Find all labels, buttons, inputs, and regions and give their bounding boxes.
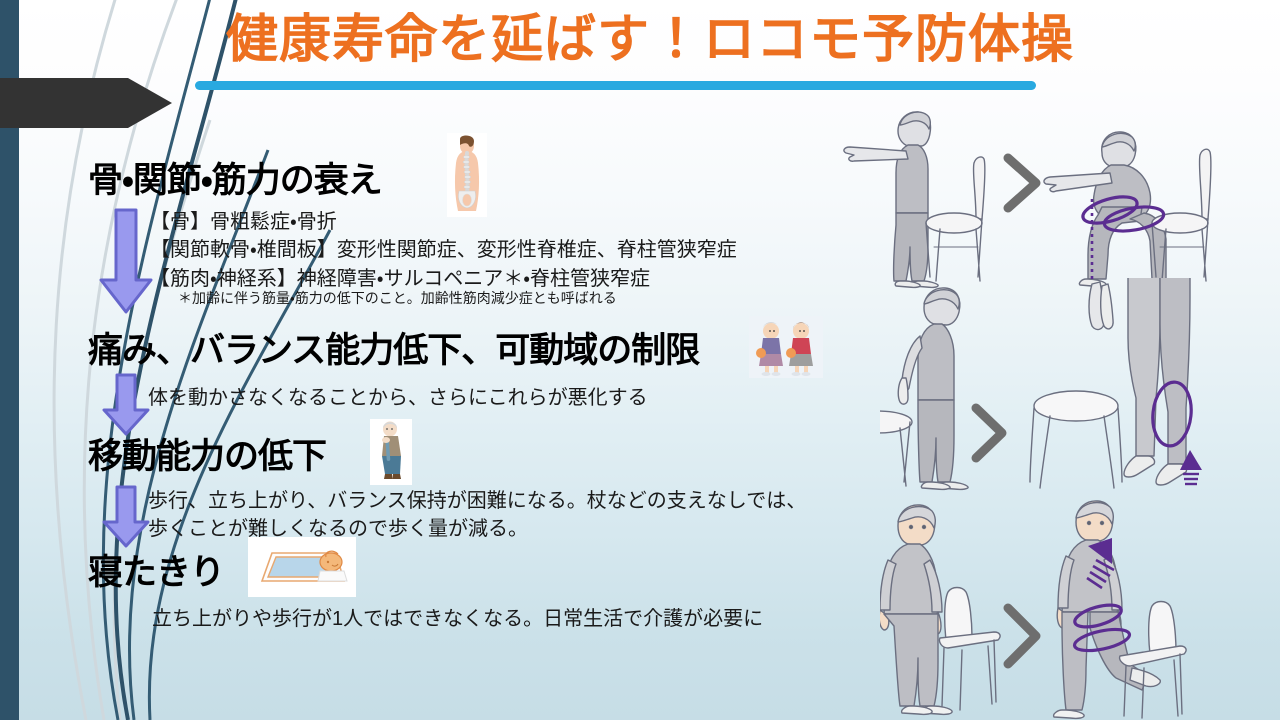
section-heading-1: 骨・関節・筋力の衰え — [88, 152, 382, 203]
page-title: 健康寿命を延ばす！ロコモ予防体操 — [150, 12, 1150, 69]
spine-anatomy-illustration — [447, 133, 487, 217]
section-body-3: 歩行、立ち上がり、バランス保持が困難になる。杖などの支えなしでは、 歩くことが難… — [148, 487, 888, 544]
section-body-2: 体を動かさなくなることから、さらにこれらが悪化する — [148, 384, 648, 412]
flow-arrow-3 — [100, 484, 152, 555]
section-footnote-1: ＊加齢に伴う筋量・筋力の低下のこと。加齢性筋肉減少症とも呼ばれる — [178, 288, 617, 308]
flow-arrow-2 — [100, 372, 152, 443]
section-body-2-line-1: 体を動かさなくなることから、さらにこれらが悪化する — [148, 384, 648, 412]
bedridden-person-illustration — [248, 537, 356, 597]
section-body-3-line-1: 歩行、立ち上がり、バランス保持が困難になる。杖などの支えなしでは、 — [148, 487, 888, 515]
elderly-women-illustration — [749, 316, 823, 378]
section-body-4: 立ち上がりや歩行が1人ではできなくなる。日常生活で介護が必要に — [152, 605, 763, 633]
section-body-1-line-2: 【関節軟骨・椎間板】変形性関節症、変形性脊椎症、脊柱管狭窄症 — [150, 236, 737, 264]
flow-arrow-1 — [96, 206, 156, 323]
calf-raise-exercise — [880, 278, 1280, 508]
section-body-4-line-1: 立ち上がりや歩行が1人ではできなくなる。日常生活で介護が必要に — [152, 605, 763, 633]
section-body-1: 【骨】骨粗鬆症・骨折 【関節軟骨・椎間板】変形性関節症、変形性脊椎症、脊柱管狭窄… — [150, 208, 737, 293]
title-underline-rule — [195, 81, 1036, 90]
chair-squat-exercise — [830, 95, 1280, 290]
section-heading-2: 痛み、バランス能力低下、可動域の制限 — [88, 322, 699, 373]
leg-raise-exercise — [880, 498, 1280, 720]
section-body-1-line-1: 【骨】骨粗鬆症・骨折 — [150, 208, 737, 236]
slide: 健康寿命を延ばす！ロコモ予防体操 骨・関節・筋力の衰え — [0, 0, 1280, 720]
elderly-man-with-cane-illustration — [370, 419, 412, 485]
